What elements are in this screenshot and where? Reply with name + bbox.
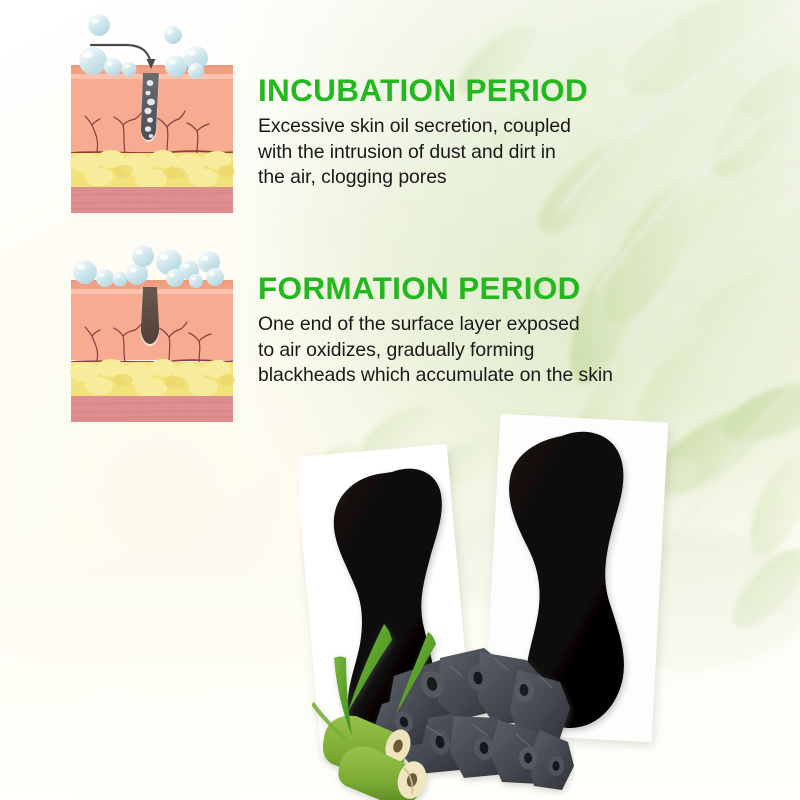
skin-diagram-incubation bbox=[63, 3, 241, 225]
body-line: to air oxidizes, gradually forming bbox=[258, 338, 698, 364]
body-line: Excessive skin oil secretion, coupled bbox=[258, 114, 658, 140]
body-line: blackheads which accumulate on the skin bbox=[258, 363, 698, 389]
section-incubation-text: INCUBATION PERIOD Excessive skin oil sec… bbox=[258, 74, 658, 191]
body-formation: One end of the surface layer exposed to … bbox=[258, 312, 698, 389]
infographic-canvas: INCUBATION PERIOD Excessive skin oil sec… bbox=[0, 0, 800, 800]
body-incubation: Excessive skin oil secretion, coupled wi… bbox=[258, 114, 658, 191]
bamboo-charcoal-cluster bbox=[312, 618, 574, 800]
skin-diagram-formation bbox=[63, 240, 241, 430]
heading-incubation: INCUBATION PERIOD bbox=[258, 74, 658, 107]
body-line: with the intrusion of dust and dirt in bbox=[258, 140, 658, 166]
body-line: One end of the surface layer exposed bbox=[258, 312, 698, 338]
body-line: the air, clogging pores bbox=[258, 165, 658, 191]
blackhead-plug bbox=[141, 287, 159, 344]
heading-formation: FORMATION PERIOD bbox=[258, 272, 698, 305]
section-formation-text: FORMATION PERIOD One end of the surface … bbox=[258, 272, 698, 389]
